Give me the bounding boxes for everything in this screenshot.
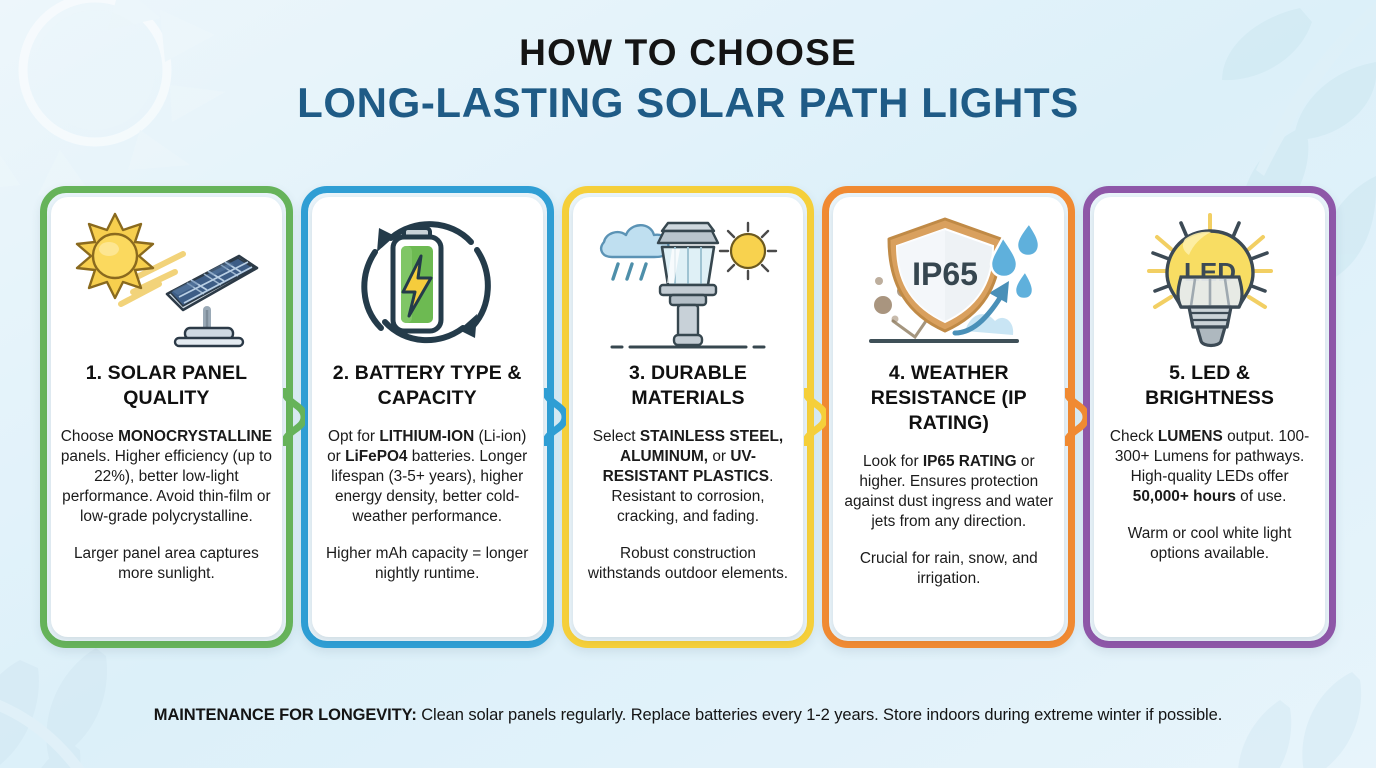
rain-cloud xyxy=(601,225,668,279)
header: HOW TO CHOOSE LONG-LASTING SOLAR PATH LI… xyxy=(0,32,1376,126)
sun xyxy=(720,223,776,279)
card-solar-panel-quality[interactable]: 1. SOLAR PANEL QUALITY Choose MONOCRYSTA… xyxy=(40,186,293,648)
card-inner: 3. DURABLE MATERIALS Select STAINLESS ST… xyxy=(573,197,804,637)
card-title: 4. WEATHER RESISTANCE (IP RATING) xyxy=(842,361,1055,436)
card-connector-notch xyxy=(283,388,305,446)
card-title: 2. BATTERY TYPE & CAPACITY xyxy=(321,361,534,411)
card-title: 3. DURABLE MATERIALS xyxy=(582,361,795,411)
lamp-post-weather-icon xyxy=(582,207,795,359)
card-connector-notch xyxy=(804,388,826,446)
card-inner: 2. BATTERY TYPE & CAPACITY Opt for LITHI… xyxy=(312,197,543,637)
card-body: Opt for LITHIUM-ION (Li-ion) or LiFePO4 … xyxy=(321,427,534,584)
footer-label: MAINTENANCE FOR LONGEVITY: xyxy=(154,706,417,724)
card-weather-resistance[interactable]: IP65 4. WEATHER RESISTANCE (IP RATING) L… xyxy=(822,186,1075,648)
card-connector-notch xyxy=(1065,388,1087,446)
footer-text: Clean solar panels regularly. Replace ba… xyxy=(417,706,1222,724)
card-paragraph: Look for IP65 RATING or higher. Ensures … xyxy=(842,452,1055,532)
card-inner: IP65 4. WEATHER RESISTANCE (IP RATING) L… xyxy=(833,197,1064,637)
card-battery-type-capacity[interactable]: 2. BATTERY TYPE & CAPACITY Opt for LITHI… xyxy=(301,186,554,648)
page-title-top: HOW TO CHOOSE xyxy=(0,32,1376,73)
card-body: Choose MONOCRYSTALLINE panels. Higher ef… xyxy=(60,427,273,584)
card-paragraph: Warm or cool white light options availab… xyxy=(1103,524,1316,564)
card-paragraph: Check LUMENS output. 100-300+ Lumens for… xyxy=(1103,427,1316,507)
led-bulb-icon: LED xyxy=(1103,207,1316,359)
card-paragraph: Robust construction withstands outdoor e… xyxy=(582,544,795,584)
card-paragraph: Larger panel area captures more sunlight… xyxy=(60,544,273,584)
ip65-label: IP65 xyxy=(912,256,978,292)
card-paragraph: Higher mAh capacity = longer nightly run… xyxy=(321,544,534,584)
card-durable-materials[interactable]: 3. DURABLE MATERIALS Select STAINLESS ST… xyxy=(562,186,815,648)
card-list: 1. SOLAR PANEL QUALITY Choose MONOCRYSTA… xyxy=(40,186,1336,648)
footer-note: MAINTENANCE FOR LONGEVITY: Clean solar p… xyxy=(0,706,1376,725)
ip65-shield-icon: IP65 xyxy=(842,207,1055,359)
page-title-main: LONG-LASTING SOLAR PATH LIGHTS xyxy=(0,79,1376,126)
card-title: 1. SOLAR PANEL QUALITY xyxy=(60,361,273,411)
card-paragraph: Crucial for rain, snow, and irrigation. xyxy=(842,549,1055,589)
card-led-brightness[interactable]: LED xyxy=(1083,186,1336,648)
battery-recycle-icon xyxy=(321,207,534,359)
solar-panel-sun-icon xyxy=(60,207,273,359)
card-inner: LED xyxy=(1094,197,1325,637)
infographic-canvas: HOW TO CHOOSE LONG-LASTING SOLAR PATH LI… xyxy=(0,0,1376,768)
card-body: Select STAINLESS STEEL, ALUMINUM, or UV-… xyxy=(582,427,795,584)
card-paragraph: Select STAINLESS STEEL, ALUMINUM, or UV-… xyxy=(582,427,795,527)
card-body: Look for IP65 RATING or higher. Ensures … xyxy=(842,452,1055,589)
card-connector-notch xyxy=(544,388,566,446)
card-body: Check LUMENS output. 100-300+ Lumens for… xyxy=(1103,427,1316,564)
card-title: 5. LED & BRIGHTNESS xyxy=(1103,361,1316,411)
card-paragraph: Choose MONOCRYSTALLINE panels. Higher ef… xyxy=(60,427,273,527)
card-paragraph: Opt for LITHIUM-ION (Li-ion) or LiFePO4 … xyxy=(321,427,534,527)
card-inner: 1. SOLAR PANEL QUALITY Choose MONOCRYSTA… xyxy=(51,197,282,637)
